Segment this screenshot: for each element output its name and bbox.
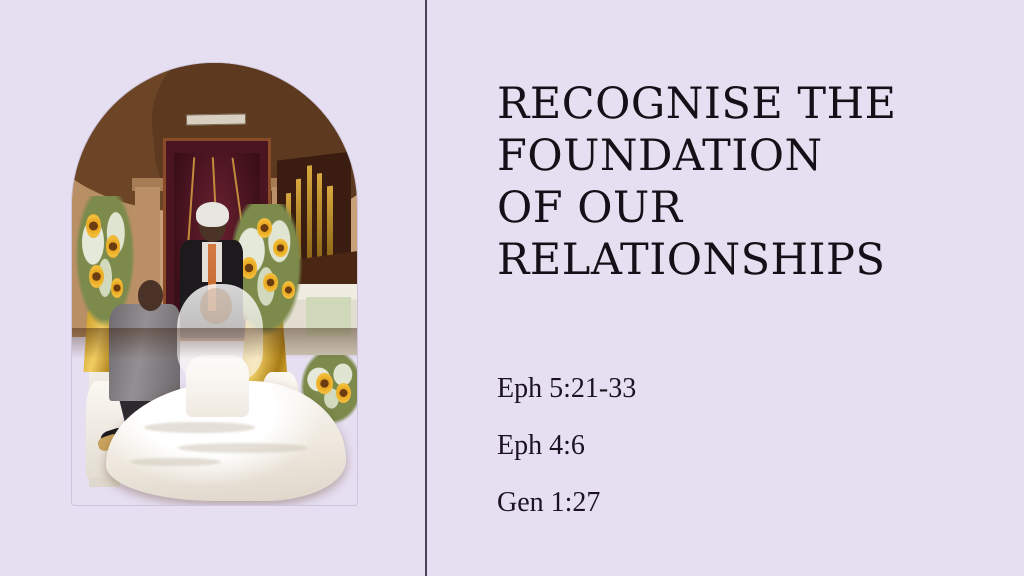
title-line-1: RECOGNISE THE bbox=[497, 78, 917, 130]
scripture-reference-list: Eph 5:21-33 Eph 4:6 Gen 1:27 bbox=[497, 360, 636, 531]
title-line-2: FOUNDATION bbox=[497, 130, 917, 182]
floor-shadow bbox=[72, 328, 357, 359]
presentation-slide: RECOGNISE THE FOUNDATION OF OUR RELATION… bbox=[0, 0, 1024, 576]
bride-head bbox=[200, 288, 231, 323]
vertical-divider bbox=[425, 0, 427, 576]
page-title: RECOGNISE THE FOUNDATION OF OUR RELATION… bbox=[497, 78, 917, 286]
ceiling-light-fixture bbox=[186, 113, 246, 125]
wedding-photo-arch bbox=[72, 63, 357, 505]
wedding-photo-image bbox=[72, 63, 357, 505]
title-line-3: OF OUR bbox=[497, 182, 917, 234]
scripture-reference-3: Gen 1:27 bbox=[497, 474, 636, 531]
officiant-hair bbox=[196, 202, 229, 226]
scripture-reference-2: Eph 4:6 bbox=[497, 417, 636, 474]
title-line-4: RELATIONSHIPS bbox=[497, 234, 917, 286]
scripture-reference-1: Eph 5:21-33 bbox=[497, 360, 636, 417]
groom-head bbox=[138, 280, 164, 311]
